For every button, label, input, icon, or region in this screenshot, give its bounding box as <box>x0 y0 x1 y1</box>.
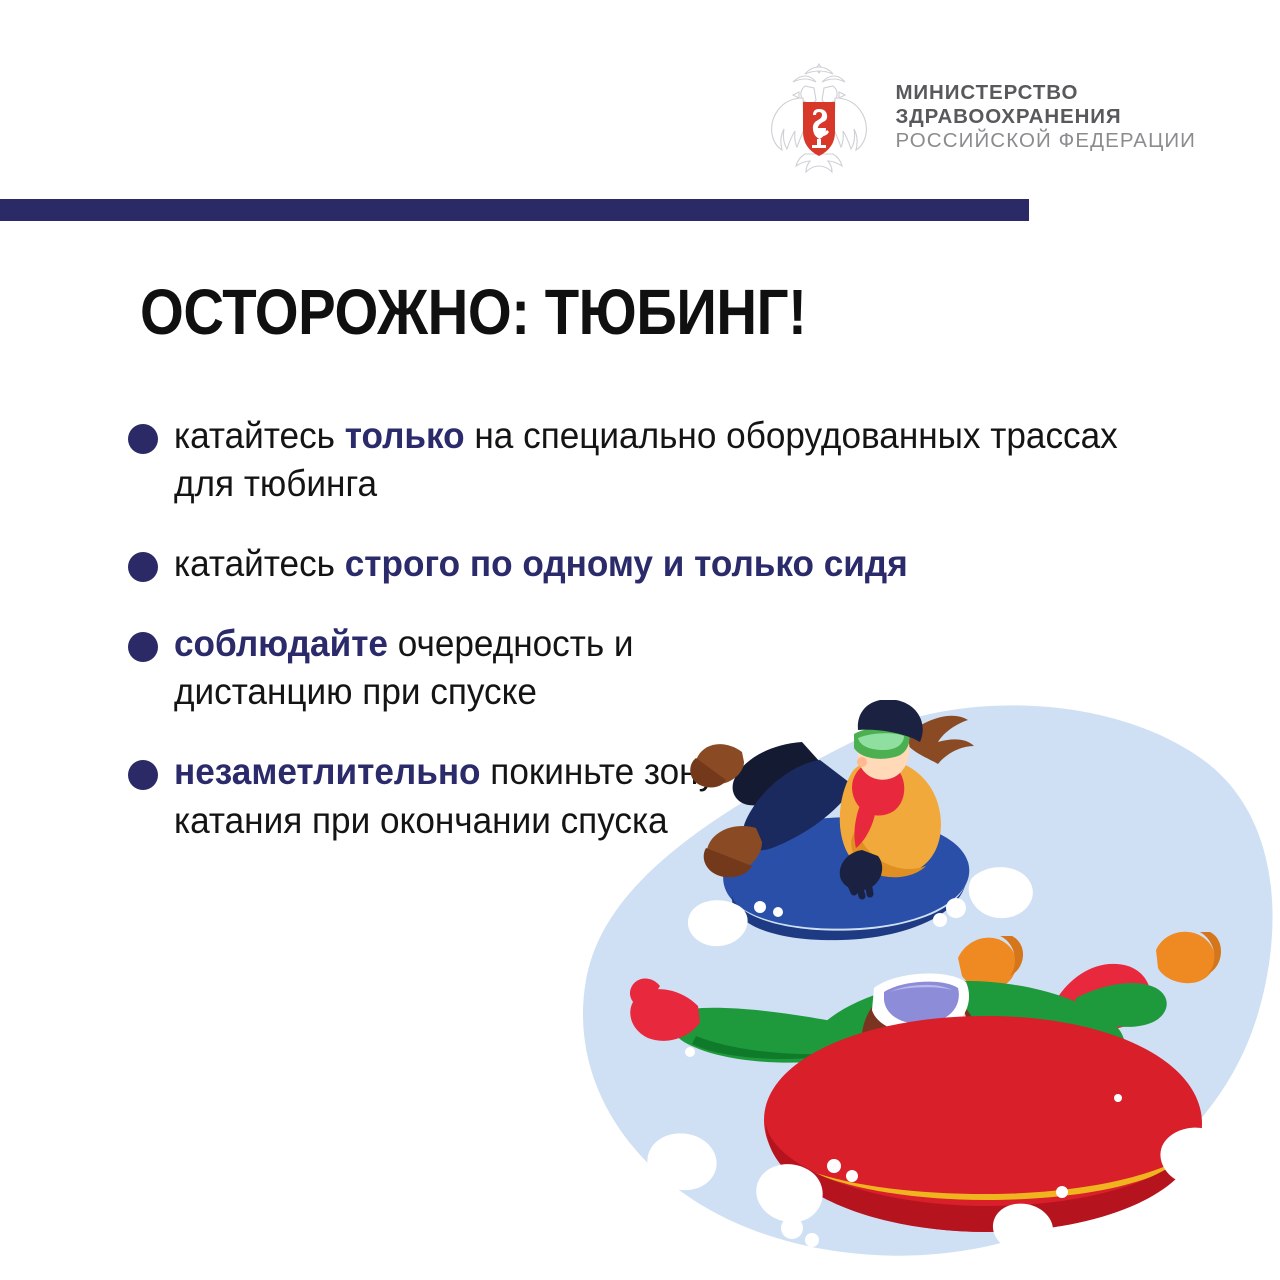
two-people-snow-tubing-illustration <box>556 700 1280 1272</box>
bullet-text-2: катайтесь строго по одному и только сидя <box>174 540 1134 588</box>
bullet-dot-icon <box>128 632 158 662</box>
page-title: ОСТОРОЖНО: ТЮБИНГ! <box>140 275 806 349</box>
bullet-dot-icon <box>128 424 158 454</box>
ministry-header: МИНИСТЕРСТВО ЗДРАВООХРАНЕНИЯ РОССИЙСКОЙ … <box>765 58 1196 176</box>
bullet-1-part-1: только <box>345 415 465 456</box>
bullet-3-part-0: соблюдайте <box>174 623 388 664</box>
list-item: катайтесь только на специально оборудова… <box>128 412 1238 508</box>
bullet-1-part-0: катайтесь <box>174 415 345 456</box>
ministry-name-block: МИНИСТЕРСТВО ЗДРАВООХРАНЕНИЯ РОССИЙСКОЙ … <box>895 81 1196 154</box>
ministry-line-2: ЗДРАВООХРАНЕНИЯ <box>895 105 1196 129</box>
list-item: катайтесь строго по одному и только сидя <box>128 540 1238 588</box>
bullet-dot-icon <box>128 552 158 582</box>
bullet-dot-icon <box>128 760 158 790</box>
bullet-4-part-0: незаметлительно <box>174 751 481 792</box>
bullet-2-part-1: строго по одному и только сидя <box>345 543 908 584</box>
poster-canvas: МИНИСТЕРСТВО ЗДРАВООХРАНЕНИЯ РОССИЙСКОЙ … <box>0 0 1280 1280</box>
ministry-line-3: РОССИЙСКОЙ ФЕДЕРАЦИИ <box>895 129 1196 153</box>
bullet-text-1: катайтесь только на специально оборудова… <box>174 412 1185 508</box>
ministry-line-1: МИНИСТЕРСТВО <box>895 81 1196 105</box>
russian-double-headed-eagle-emblem <box>765 58 873 176</box>
bullet-2-part-0: катайтесь <box>174 543 345 584</box>
header-divider-bar <box>0 199 1029 221</box>
